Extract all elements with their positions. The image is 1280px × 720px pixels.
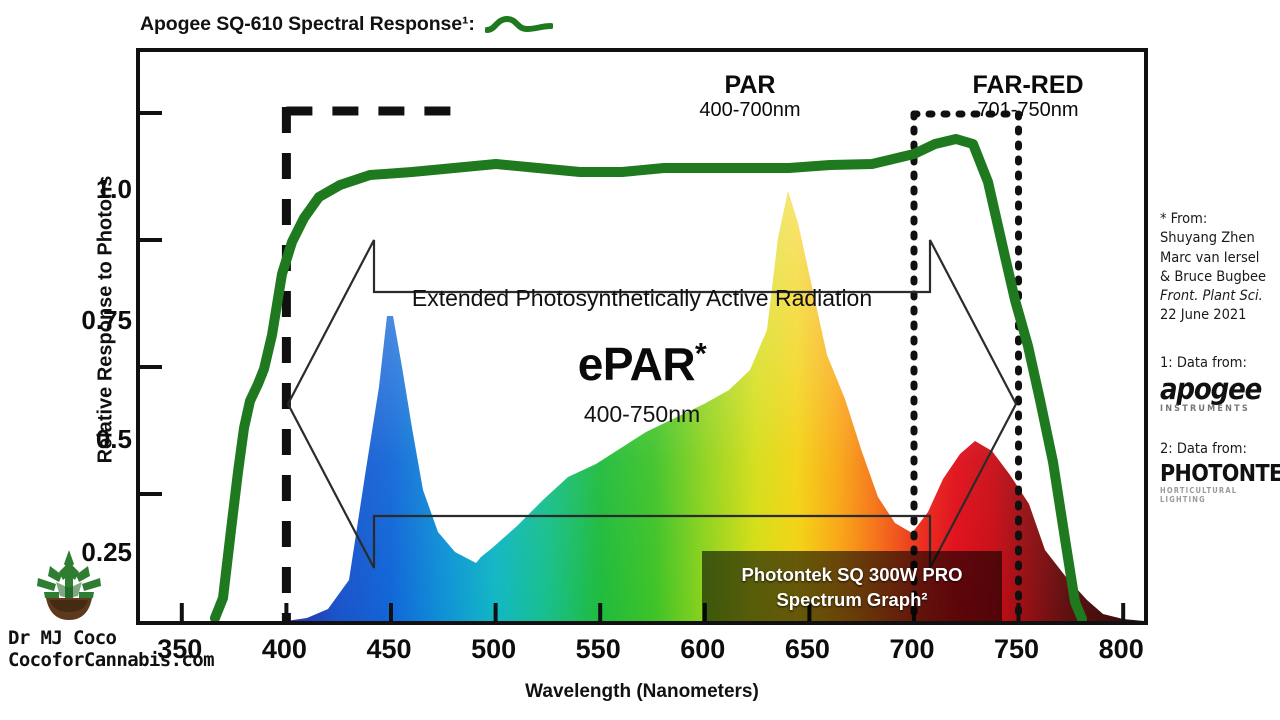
epar-title-text: ePAR xyxy=(578,338,695,390)
x-tick-400: 400 xyxy=(239,634,329,665)
cannabis-plant-logo-icon xyxy=(26,548,112,622)
sidebar-notes: * From: Shuyang Zhen Marc van Iersel & B… xyxy=(1160,210,1280,504)
data-source-1-label: 1: Data from: xyxy=(1160,354,1280,373)
epar-heading: Extended Photosynthetically Active Radia… xyxy=(332,285,952,312)
branding-line-1: Dr MJ Coco xyxy=(8,627,228,649)
par-band-range: 400-700nm xyxy=(630,98,870,123)
epar-title: ePAR* xyxy=(432,337,852,391)
y-tick-0-5: 0.5 xyxy=(40,424,132,455)
source-note-line-2: Marc van Iersel xyxy=(1160,249,1280,268)
y-tick-1-0: 1.0 xyxy=(40,174,132,205)
x-tick-800: 800 xyxy=(1076,634,1166,665)
far-red-band-label: FAR-RED 701-750nm xyxy=(908,72,1148,123)
x-tick-750: 750 xyxy=(972,634,1062,665)
x-axis-labels: 350 400 450 500 550 600 650 700 750 800 xyxy=(136,634,1148,674)
source-date: 22 June 2021 xyxy=(1160,306,1280,325)
plot-area: PAR 400-700nm FAR-RED 701-750nm Extended… xyxy=(136,48,1148,625)
epar-range: 400-750nm xyxy=(432,401,852,428)
x-tick-700: 700 xyxy=(867,634,957,665)
par-band-name: PAR xyxy=(630,72,870,98)
x-tick-600: 600 xyxy=(658,634,748,665)
source-note-line-3: & Bruce Bugbee xyxy=(1160,268,1280,287)
source-note-line-1: Shuyang Zhen xyxy=(1160,229,1280,248)
y-tick-marks xyxy=(140,113,162,494)
x-axis-title: Wavelength (Nanometers) xyxy=(136,681,1148,703)
photontek-logo-subtitle: HORTICULTURAL LIGHTING xyxy=(1160,486,1280,504)
caption-line-2: Spectrum Graph² xyxy=(776,589,927,611)
epar-title-asterisk: * xyxy=(695,338,706,371)
data-source-2-label: 2: Data from: xyxy=(1160,440,1280,459)
source-note-line-0: * From: xyxy=(1160,210,1280,229)
photontek-logo: PHOTONTEK xyxy=(1160,463,1280,486)
x-tick-500: 500 xyxy=(449,634,539,665)
far-red-band-name: FAR-RED xyxy=(908,72,1148,98)
y-axis-labels: Relative Response to Photons 1.0 0.75 0.… xyxy=(36,48,132,625)
source-journal: Front. Plant Sci. xyxy=(1160,287,1280,306)
far-red-band-range: 701-750nm xyxy=(908,98,1148,123)
legend: Apogee SQ-610 Spectral Response¹: xyxy=(140,13,553,36)
branding-line-2: CocoforCannabis.com xyxy=(8,649,228,671)
spectral-response-infographic: Apogee SQ-610 Spectral Response¹: Relati… xyxy=(0,0,1280,720)
photontek-caption-box: Photontek SQ 300W PRO Spectrum Graph² xyxy=(702,551,1002,624)
apogee-logo-text: apogee xyxy=(1160,372,1261,406)
y-tick-0-75: 0.75 xyxy=(40,305,132,336)
data-source-2: 2: Data from: PHOTONTEK HORTICULTURAL LI… xyxy=(1160,440,1280,504)
branding-text: Dr MJ Coco CocoforCannabis.com xyxy=(8,627,228,672)
apogee-logo: apogee xyxy=(1160,375,1280,404)
source-note: * From: Shuyang Zhen Marc van Iersel & B… xyxy=(1160,210,1280,326)
par-band-label: PAR 400-700nm xyxy=(630,72,870,123)
x-tick-650: 650 xyxy=(762,634,852,665)
apogee-logo-subtitle: INSTRUMENTS xyxy=(1160,404,1280,414)
caption-line-1: Photontek SQ 300W PRO xyxy=(741,564,962,586)
branding: Dr MJ Coco CocoforCannabis.com xyxy=(8,548,228,672)
legend-line-swatch xyxy=(485,14,553,36)
data-source-1: 1: Data from: apogee INSTRUMENTS xyxy=(1160,354,1280,414)
x-tick-450: 450 xyxy=(344,634,434,665)
x-tick-550: 550 xyxy=(553,634,643,665)
legend-label: Apogee SQ-610 Spectral Response¹: xyxy=(140,13,475,36)
